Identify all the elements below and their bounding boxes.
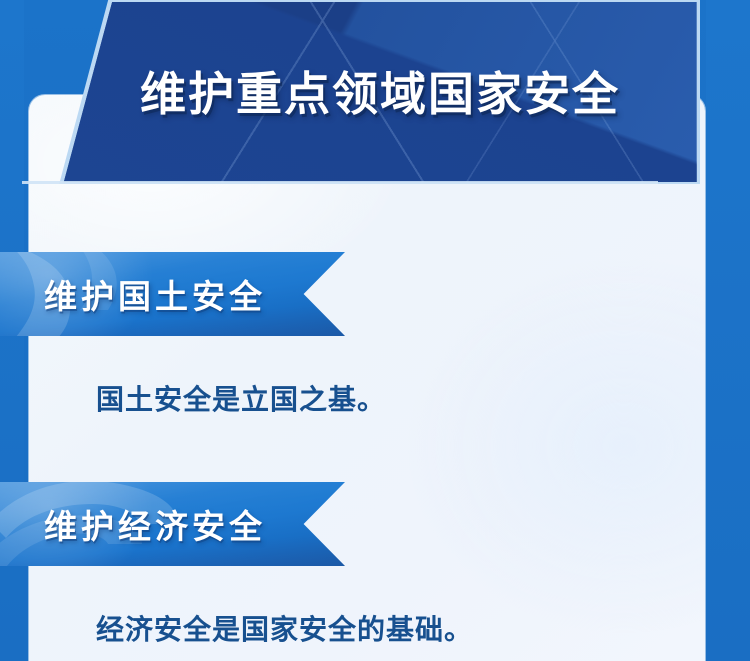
section-body-text-2: 经济安全是国家安全的基础。 — [96, 608, 473, 648]
page-title: 维护重点领域国家安全 — [38, 0, 700, 182]
section-banner-1-label: 维护国土安全 — [0, 252, 266, 336]
header-underline — [22, 181, 658, 184]
header-banner: 维护重点领域国家安全 — [38, 0, 700, 184]
section-body-text-1: 国土安全是立国之基。 — [96, 378, 386, 418]
section-banner-2: 维护经济安全 — [0, 482, 345, 566]
infographic-poster: 维护重点领域国家安全 维护国土安全 国土安全是立国之基。 维护经济安全 经济安全… — [0, 0, 750, 661]
background-right-strip — [706, 0, 750, 661]
section-banner-2-label: 维护经济安全 — [0, 482, 266, 566]
section-banner-1: 维护国土安全 — [0, 252, 345, 336]
